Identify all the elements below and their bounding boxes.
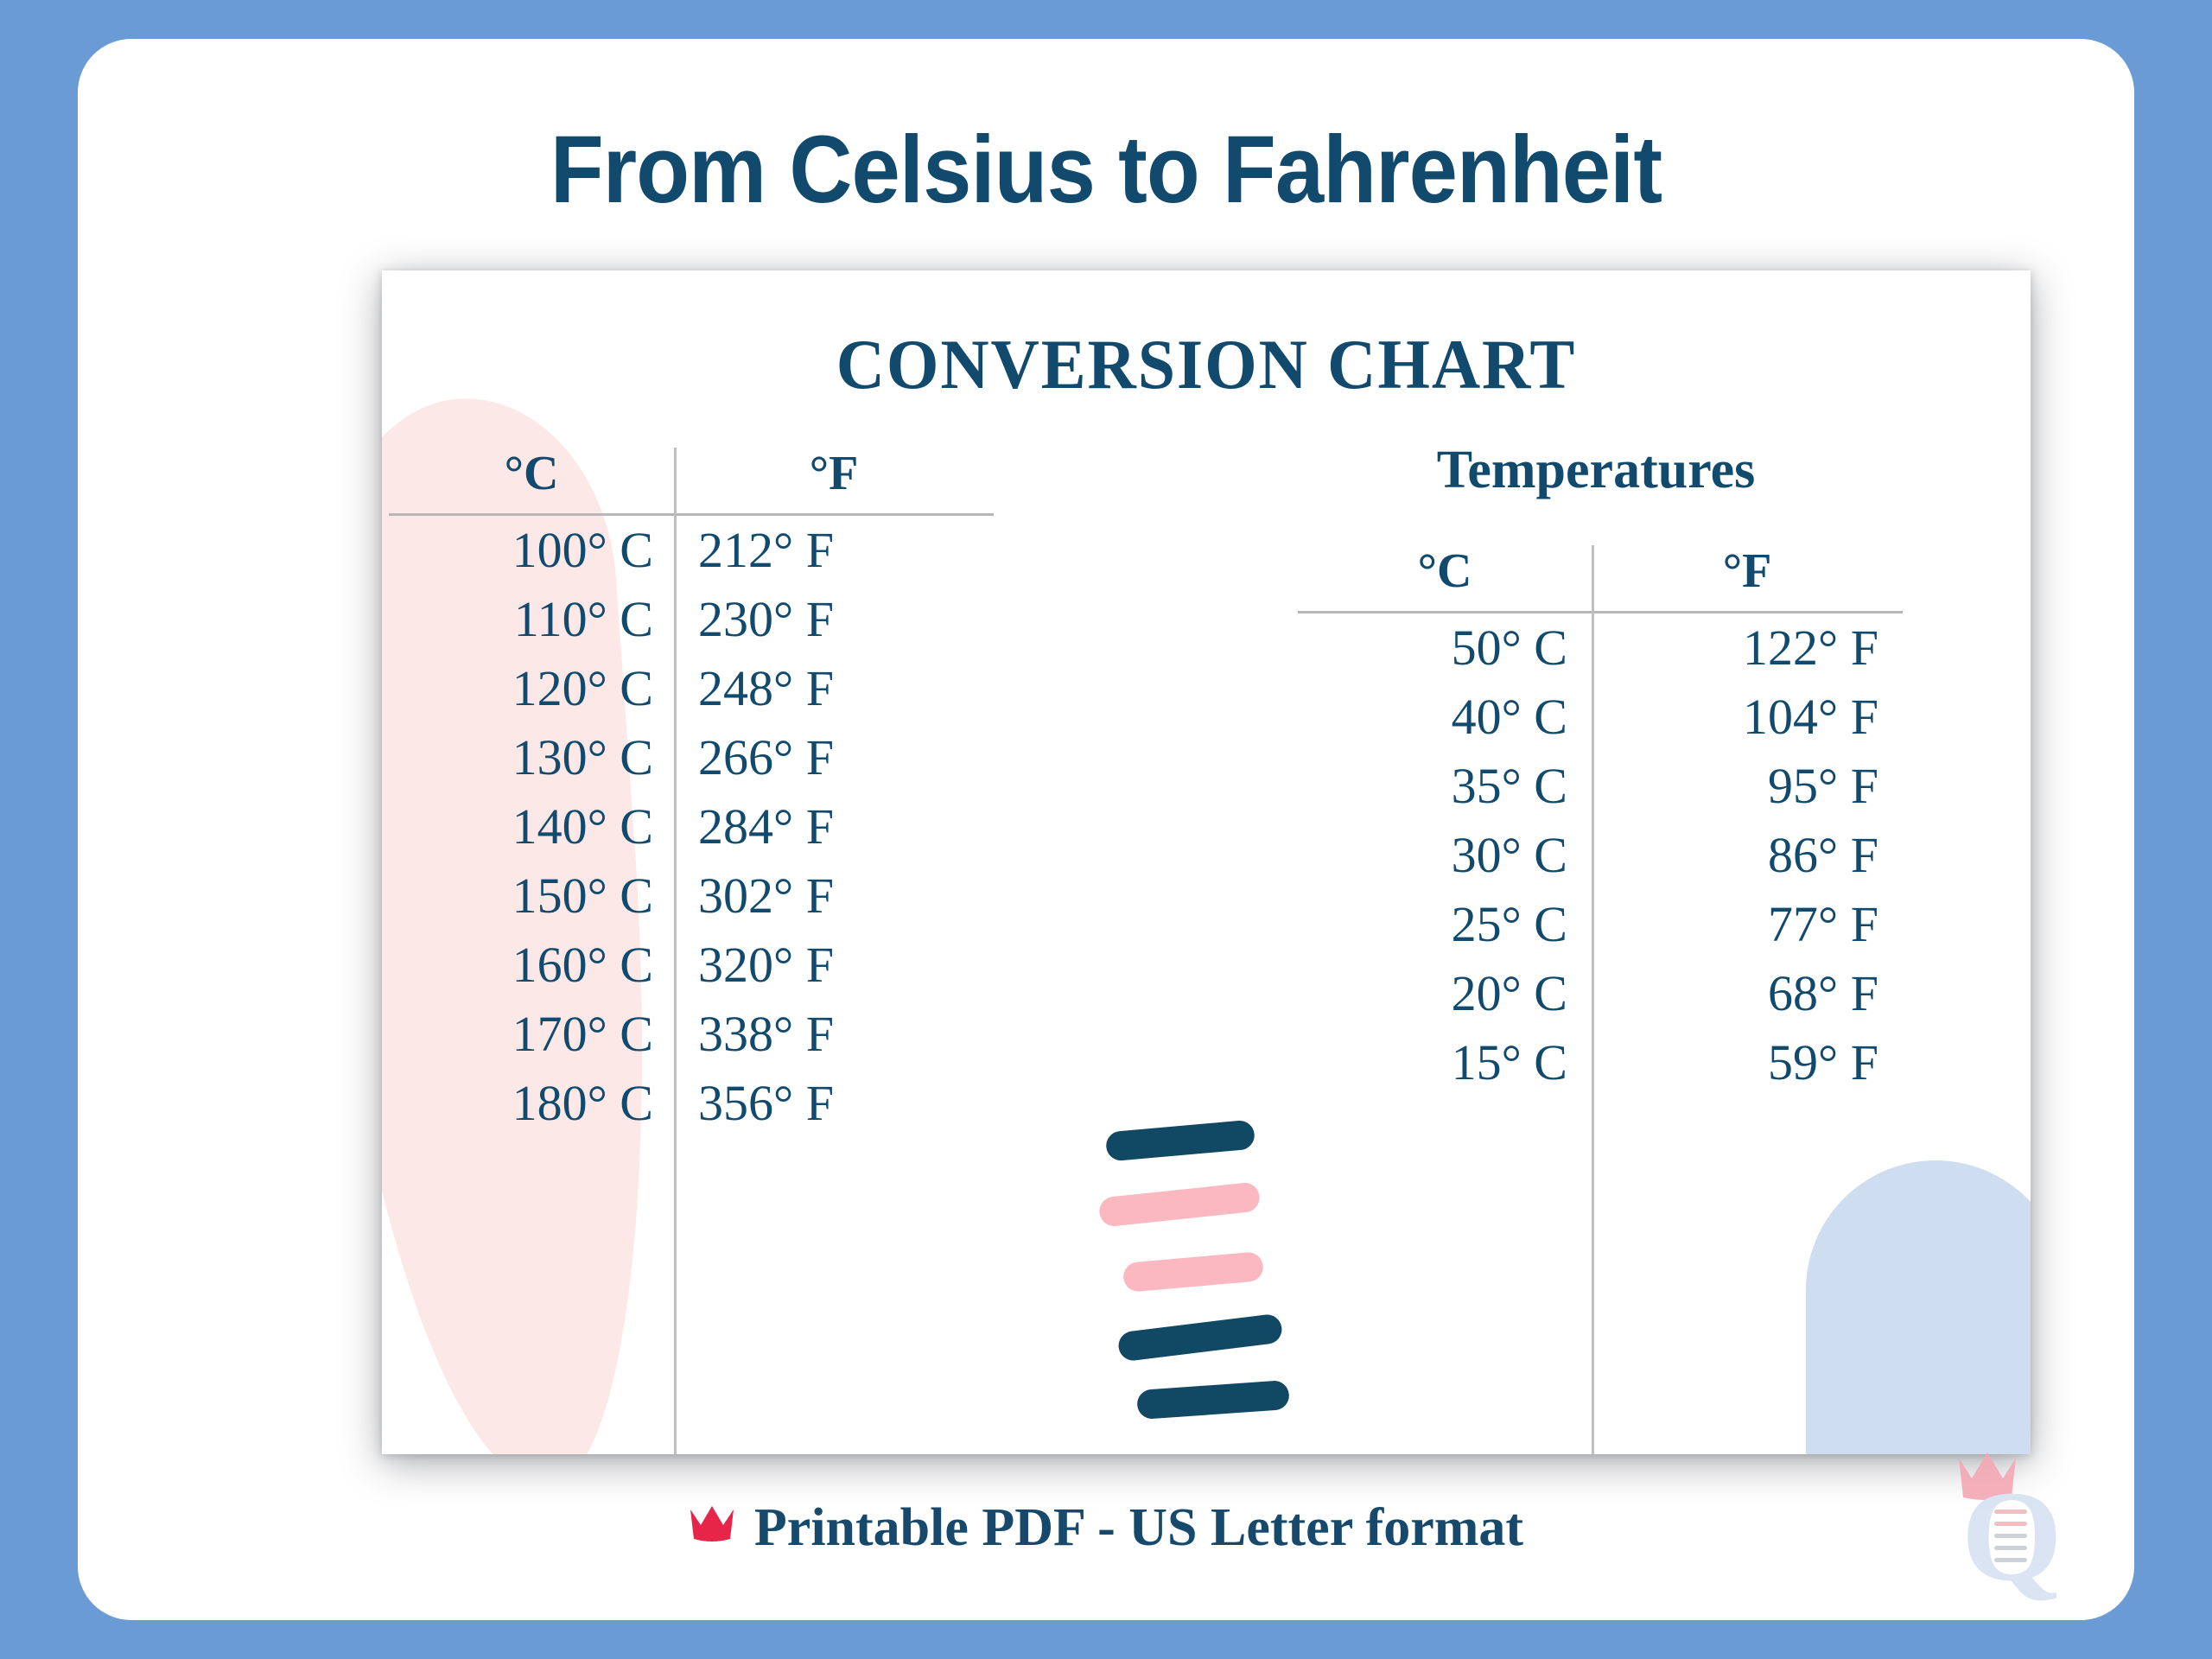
column-header-fahrenheit: °F [674,448,994,513]
cell-fahrenheit: 86° F [1592,821,1903,890]
cell-celsius: 110° C [389,585,674,654]
brush-strokes-decoration [1099,1126,1306,1411]
table-row: 20° C68° F [1298,959,1903,1028]
cell-celsius: 180° C [389,1069,674,1138]
thermometer-lines-icon [1994,1510,2027,1570]
cell-fahrenheit: 230° F [674,585,994,654]
column-divider [1592,545,1594,1454]
blue-blob-decoration [1806,1160,2031,1454]
cell-celsius: 150° C [389,861,674,931]
table-body: 50° C122° F40° C104° F35° C95° F30° C86°… [1298,613,1903,1098]
brush-stroke-1 [1105,1120,1255,1162]
table-row: 110° C230° F [389,585,994,654]
cell-fahrenheit: 95° F [1592,752,1903,821]
table-row: 140° C284° F [389,792,994,861]
cell-fahrenheit: 320° F [674,931,994,1000]
cell-celsius: 35° C [1298,752,1592,821]
brush-stroke-5 [1136,1380,1290,1420]
cell-celsius: 120° C [389,654,674,723]
cell-celsius: 170° C [389,1000,674,1069]
cell-fahrenheit: 356° F [674,1069,994,1138]
table-header-row: °C °F [389,448,994,513]
table-row: 30° C86° F [1298,821,1903,890]
poster-canvas: From Celsius to Fahrenheit CONVERSION CH… [0,0,2212,1659]
table-row: 130° C266° F [389,723,994,792]
cell-celsius: 20° C [1298,959,1592,1028]
table-row: 100° C212° F [389,516,994,585]
cell-celsius: 25° C [1298,890,1592,959]
cell-celsius: 50° C [1298,613,1592,683]
table-row: 150° C302° F [389,861,994,931]
chart-heading: CONVERSION CHART [423,324,1990,405]
brush-stroke-4 [1117,1313,1284,1363]
cell-fahrenheit: 212° F [674,516,994,585]
printable-document: CONVERSION CHART °C °F 100° C212° F110° … [382,270,2031,1454]
table-row: 25° C77° F [1298,890,1903,959]
cell-fahrenheit: 59° F [1592,1028,1903,1097]
brand-logo: Q [1955,1442,2084,1589]
table-row: 120° C248° F [389,654,994,723]
footer: Printable PDF - US Letter format [78,1497,2134,1559]
cell-fahrenheit: 266° F [674,723,994,792]
cell-fahrenheit: 302° F [674,861,994,931]
crown-icon [689,1504,735,1547]
table-row: 35° C95° F [1298,752,1903,821]
temperatures-heading: Temperatures [1268,440,1924,501]
table-row: 170° C338° F [389,1000,994,1069]
table-row: 160° C320° F [389,931,994,1000]
column-divider [674,448,677,1454]
table-row: 40° C104° F [1298,683,1903,752]
table-row: 15° C59° F [1298,1028,1903,1097]
cell-fahrenheit: 284° F [674,792,994,861]
cell-fahrenheit: 122° F [1592,613,1903,683]
column-header-fahrenheit: °F [1592,545,1903,611]
table-row: 50° C122° F [1298,613,1903,683]
white-card: From Celsius to Fahrenheit CONVERSION CH… [78,39,2134,1620]
table-row: 180° C356° F [389,1069,994,1138]
cell-celsius: 100° C [389,516,674,585]
cell-fahrenheit: 104° F [1592,683,1903,752]
cell-fahrenheit: 338° F [674,1000,994,1069]
cell-celsius: 130° C [389,723,674,792]
cell-celsius: 40° C [1298,683,1592,752]
footer-text: Printable PDF - US Letter format [754,1498,1523,1557]
table-body: 100° C212° F110° C230° F120° C248° F130°… [389,516,994,1139]
cell-celsius: 160° C [389,931,674,1000]
page-title: From Celsius to Fahrenheit [160,115,2052,225]
cell-fahrenheit: 77° F [1592,890,1903,959]
brush-stroke-3 [1122,1251,1264,1293]
brush-stroke-2 [1098,1181,1262,1227]
cell-celsius: 30° C [1298,821,1592,890]
column-header-celsius: °C [389,448,674,513]
cell-celsius: 15° C [1298,1028,1592,1097]
column-header-celsius: °C [1298,545,1592,611]
table-header-row: °C °F [1298,545,1903,611]
conversion-table-right: °C °F 50° C122° F40° C104° F35° C95° F30… [1298,545,1903,1097]
cell-celsius: 140° C [389,792,674,861]
conversion-table-left: °C °F 100° C212° F110° C230° F120° C248°… [389,448,994,1139]
cell-fahrenheit: 248° F [674,654,994,723]
cell-fahrenheit: 68° F [1592,959,1903,1028]
